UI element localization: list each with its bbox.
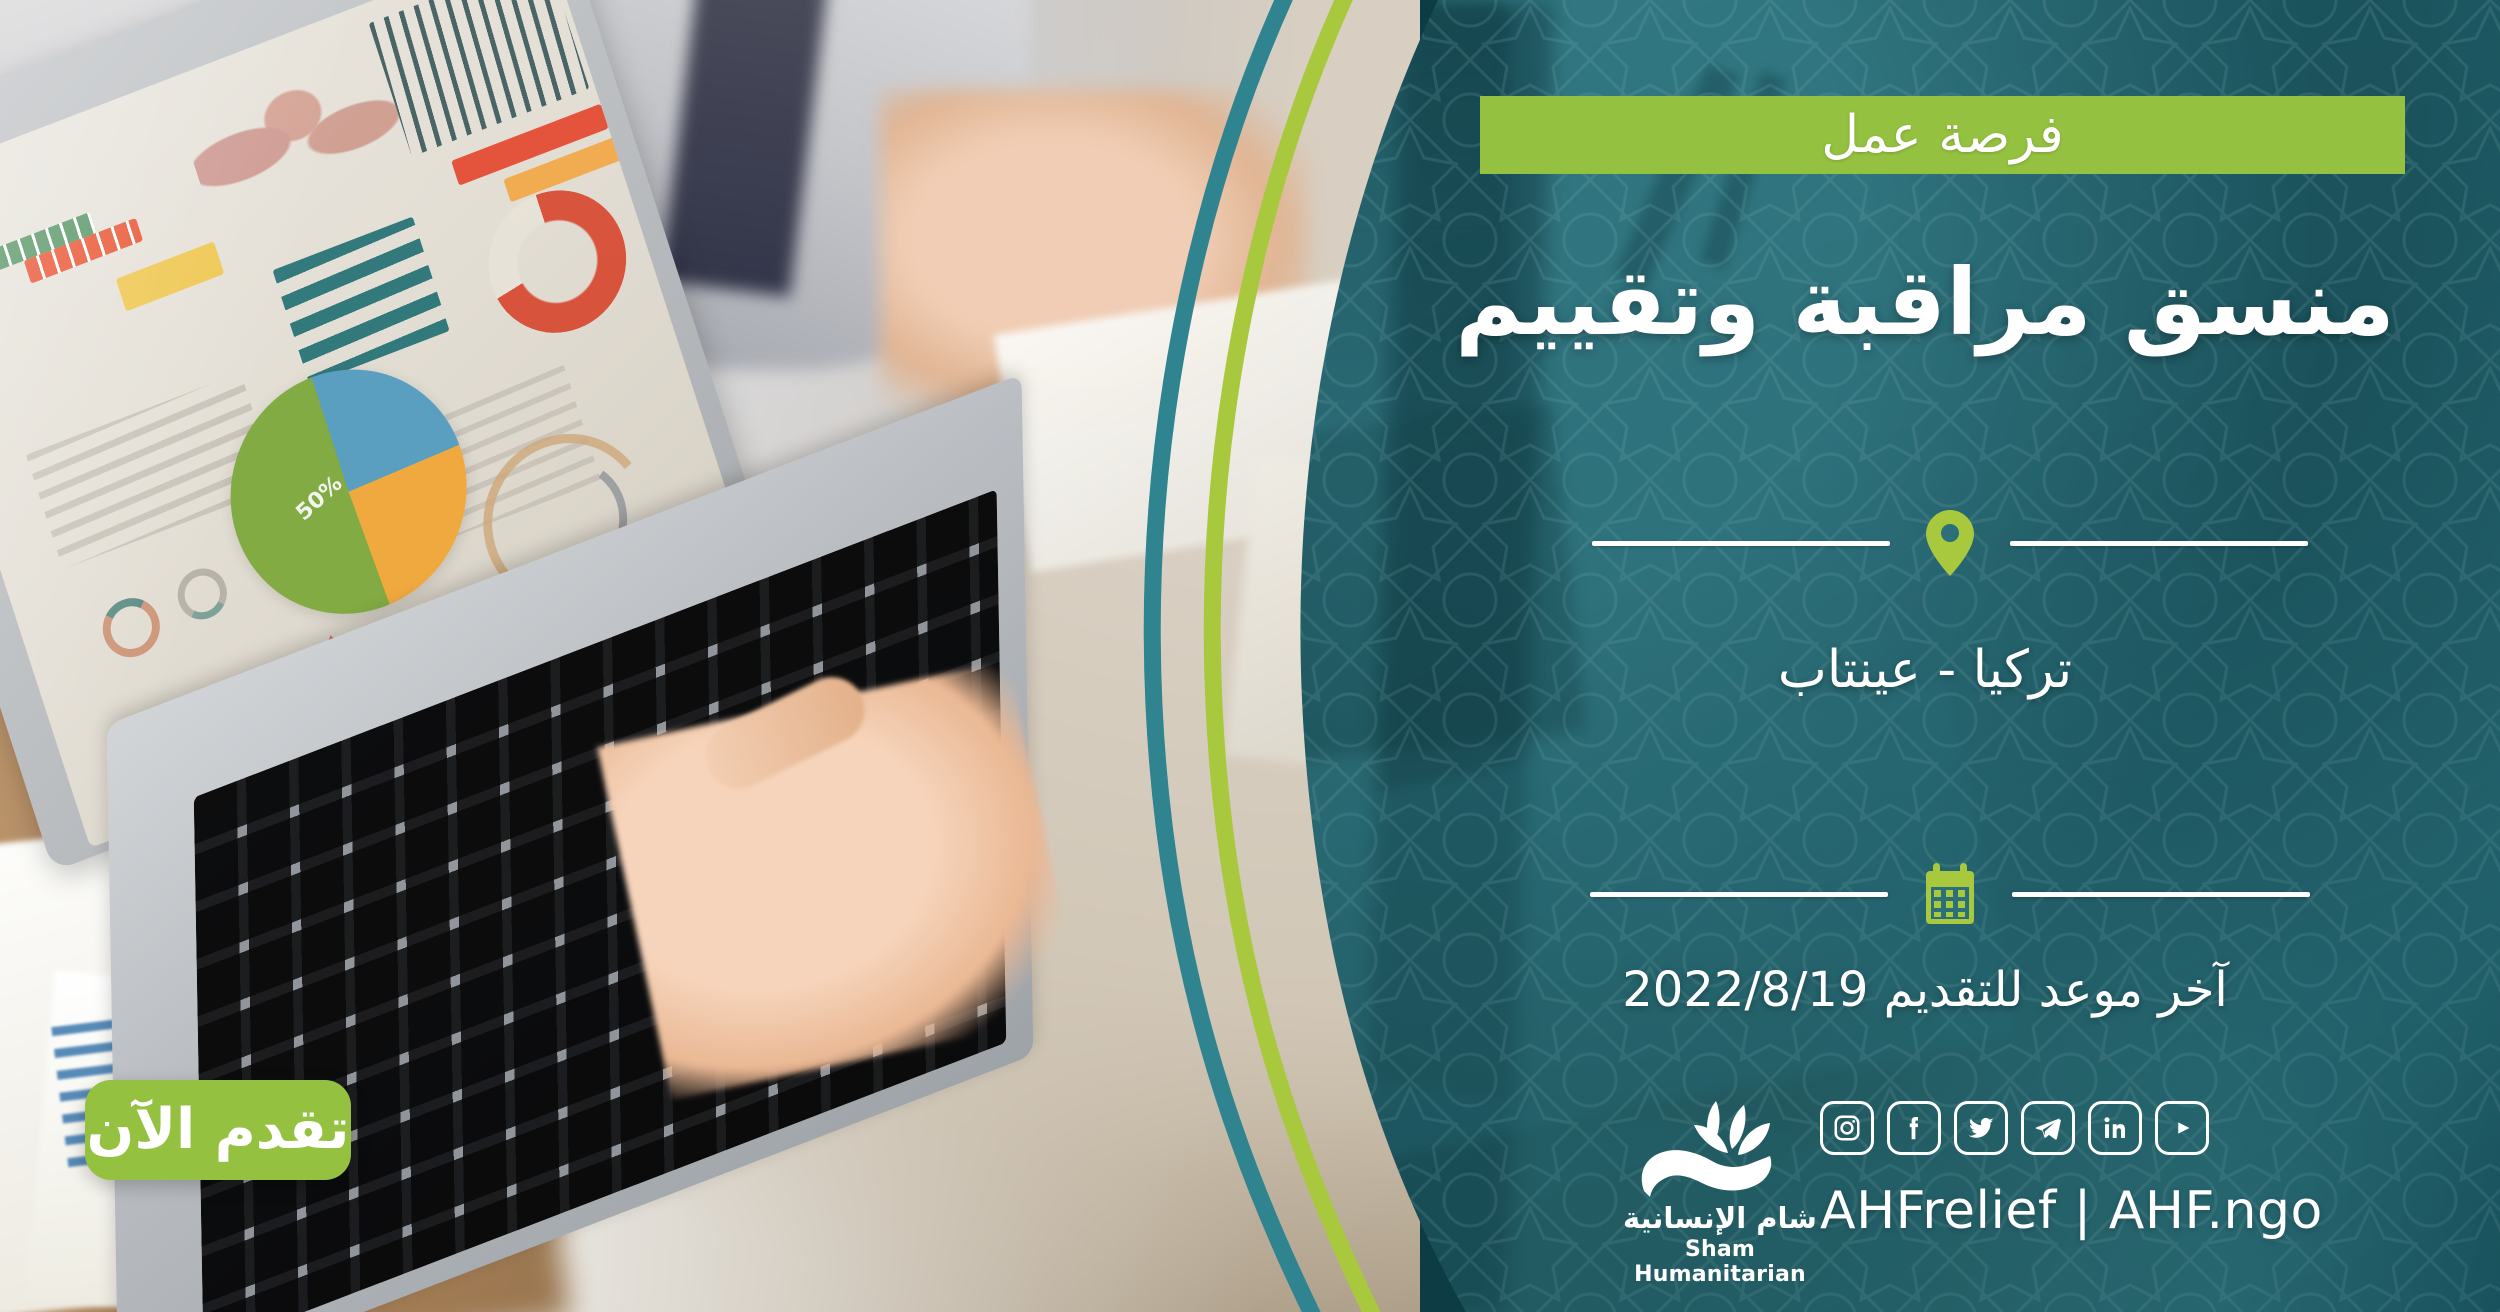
linkedin-icon[interactable]	[2088, 1101, 2142, 1155]
footer: شام الإنسانية Sham Humanitarian	[1620, 1095, 2440, 1295]
map-pin-icon	[1924, 508, 1976, 578]
youtube-icon[interactable]	[2155, 1101, 2209, 1155]
apply-now-label: تقدم الآن	[87, 1102, 350, 1158]
calendar-icon	[1922, 862, 1978, 926]
divider-line-left-2	[1590, 892, 1888, 897]
location-text: تركيا - عينتاب	[1420, 640, 2430, 700]
instagram-icon[interactable]	[1820, 1101, 1874, 1155]
job-opportunity-banner: فرصة عمل	[1480, 96, 2405, 174]
banner-label: فرصة عمل	[1821, 109, 2064, 161]
hand-with-leaves-logo	[1620, 1095, 1820, 1207]
brand-name-english: Sham Humanitarian	[1620, 1237, 1820, 1287]
deadline-text: آخر موعد للتقديم 2022/8/19	[1420, 962, 2430, 1018]
divider-line-right	[2010, 541, 2308, 546]
telegram-icon[interactable]	[2021, 1101, 2075, 1155]
apply-now-button[interactable]: تقدم الآن	[85, 1080, 351, 1180]
deadline-separator	[1470, 862, 2430, 926]
social-links[interactable]	[1820, 1101, 2209, 1155]
organization-brand: شام الإنسانية Sham Humanitarian	[1620, 1095, 1820, 1287]
facebook-icon[interactable]	[1887, 1101, 1941, 1155]
divider-line-left	[1592, 541, 1890, 546]
twitter-icon[interactable]	[1954, 1101, 2008, 1155]
social-handles: AHFrelief | AHF.ngo	[1820, 1181, 2323, 1241]
page-title: منسق مراقبة وتقييم	[1420, 252, 2430, 353]
divider-line-right-2	[2012, 892, 2310, 897]
location-separator	[1470, 508, 2430, 578]
brand-name-arabic: شام الإنسانية	[1620, 1203, 1820, 1235]
job-poster: 50%	[0, 0, 2500, 1312]
